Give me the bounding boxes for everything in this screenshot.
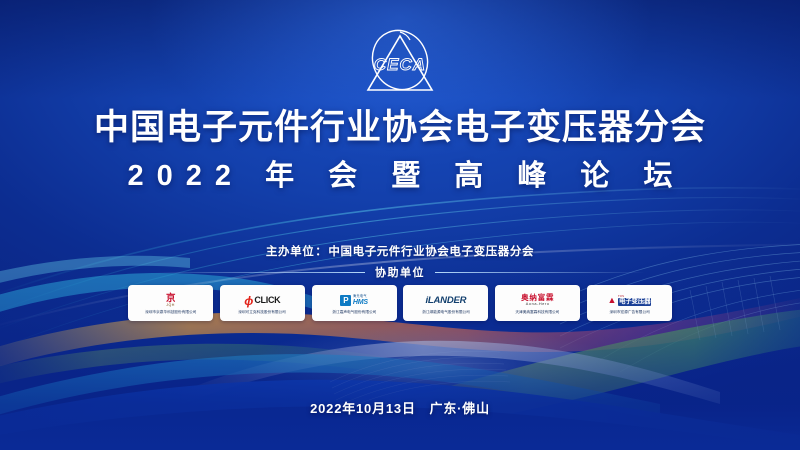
divider-rule-left: [155, 272, 365, 273]
sponsor-caption: 浙江绿能源电气股份有限公司: [422, 310, 470, 315]
ceca-logo-text: CECA: [374, 55, 426, 74]
hms-logo-icon: P 海光电气 HMS: [313, 292, 396, 309]
page-subtitle: 2022 年 会 暨 高 峰 论 坛: [0, 157, 800, 195]
hms-mark-secondary: HMS: [353, 299, 368, 306]
sponsor-card-hms[interactable]: P 海光电气 HMS 浙江嘉声电气股份有限公司: [312, 285, 397, 321]
hms-mark-primary: P: [340, 295, 351, 306]
aona-hero-logo-icon: 奥纳富霖 Aona-Hero: [496, 292, 579, 309]
jqh-logo-icon: 京 JQH: [129, 292, 212, 309]
sponsor-card-click[interactable]: ϕ CLICK 深圳可立克科技股份有限公司: [220, 285, 305, 321]
divider-rule-right: [435, 272, 645, 273]
page-title: 中国电子元件行业协会电子变压器分会: [0, 106, 800, 150]
click-mark-secondary: CLICK: [254, 296, 280, 305]
aona-mark-primary: 奥纳富霖: [521, 294, 554, 302]
ad-mark-secondary: 电子变压器: [618, 298, 652, 306]
click-logo-icon: ϕ CLICK: [221, 292, 304, 309]
sponsor-card-jqh[interactable]: 京 JQH 深圳市京泉华科技股份有限公司: [128, 285, 213, 321]
host-name: 中国电子元件行业协会电子变压器分会: [328, 246, 534, 258]
sponsor-caption: 深圳市宏源广告有限公司: [609, 310, 649, 315]
jqh-mark-secondary: JQH: [166, 304, 174, 308]
conference-banner: CECA 中国电子元件行业协会电子变压器分会 2022 年 会 暨 高 峰 论 …: [0, 0, 800, 450]
sponsor-logo-row: 京 JQH 深圳市京泉华科技股份有限公司 ϕ CLICK 深圳可立克科技股份有限…: [128, 285, 672, 321]
click-mark-primary: ϕ: [244, 295, 253, 307]
jqh-mark-primary: 京: [166, 294, 175, 304]
host-line: 主办单位：中国电子元件行业协会电子变压器分会: [0, 243, 800, 259]
flame-icon: ▲: [608, 296, 617, 305]
lander-logo-icon: iLANDER: [404, 292, 487, 309]
lander-mark-primary: iLANDER: [425, 296, 466, 306]
host-label: 主办单位: [266, 246, 314, 258]
sponsor-caption: 深圳可立克科技股份有限公司: [238, 310, 286, 315]
aona-mark-secondary: Aona-Hero: [526, 303, 550, 307]
sponsor-card-aona-hero[interactable]: 奥纳富霖 Aona-Hero 天津奥纳富霖科技有限公司: [495, 285, 580, 321]
sponsor-caption: 浙江嘉声电气股份有限公司: [332, 310, 376, 315]
ceca-logo: CECA: [346, 24, 454, 100]
sponsor-card-lander[interactable]: iLANDER 浙江绿能源电气股份有限公司: [403, 285, 488, 321]
sponsor-card-transformer-ad[interactable]: ▲ TOS 电子变压器 深圳市宏源广告有限公司: [587, 285, 672, 321]
coorganizer-divider: 协助单位: [0, 264, 800, 280]
host-colon: ：: [315, 246, 327, 258]
sponsor-caption: 深圳市京泉华科技股份有限公司: [145, 310, 196, 315]
coorganizer-label: 协助单位: [375, 264, 425, 280]
date-location: 2022年10月13日 广东·佛山: [0, 398, 800, 417]
transformer-ad-logo-icon: ▲ TOS 电子变压器: [588, 292, 671, 309]
sponsor-caption: 天津奥纳富霖科技有限公司: [516, 310, 560, 315]
